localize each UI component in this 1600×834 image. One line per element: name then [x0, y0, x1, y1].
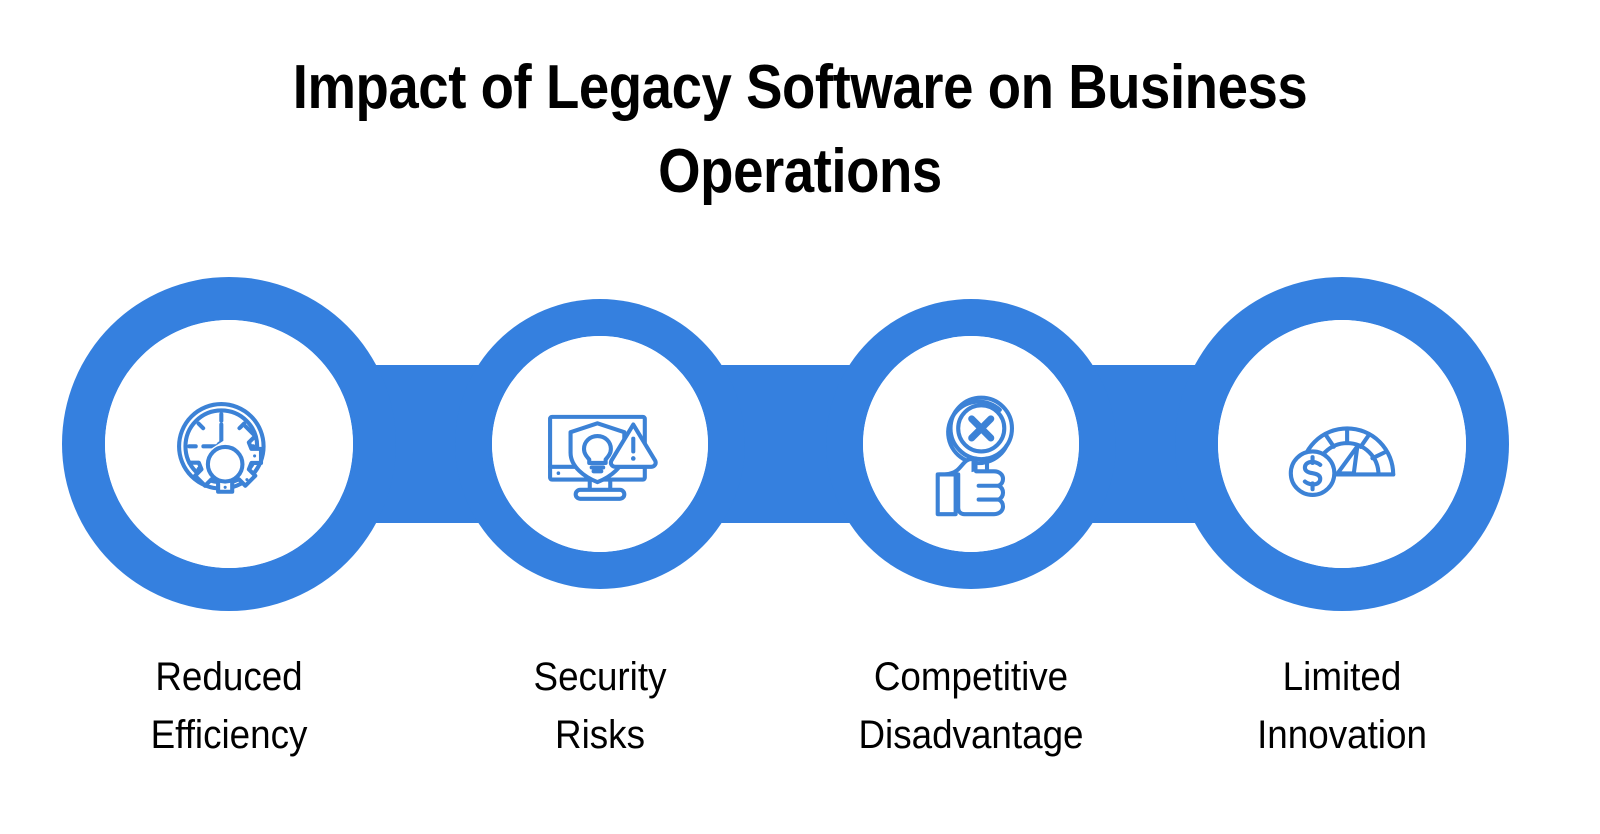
- page-title-line-1: Impact of Legacy Software on Business: [96, 46, 1504, 130]
- node-label-competitive-disadvantage: Competitive Disadvantage: [821, 648, 1121, 764]
- page-title-line-2: Operations: [96, 130, 1504, 214]
- node-inner-circle-1: [105, 320, 353, 568]
- node-label-limited-innovation: Limited Innovation: [1192, 648, 1492, 764]
- infographic-canvas: Impact of Legacy Software on Business Op…: [0, 0, 1600, 834]
- page-title: Impact of Legacy Software on Business Op…: [0, 46, 1600, 214]
- node-label-security-risks: Security Risks: [450, 648, 750, 764]
- chain-graphic: [0, 262, 1600, 630]
- node-label-reduced-efficiency: Reduced Efficiency: [79, 648, 379, 764]
- label-line-1: Limited: [1204, 648, 1480, 706]
- label-line-2: Innovation: [1204, 706, 1480, 764]
- node-inner-circle-3: [863, 336, 1079, 552]
- label-line-2: Efficiency: [91, 706, 367, 764]
- label-row: Reduced Efficiency Security Risks Compet…: [0, 648, 1600, 788]
- process-chain: [0, 262, 1600, 630]
- node-inner-circle-2: [492, 336, 708, 552]
- node-inner-circle-4: [1218, 320, 1466, 568]
- label-line-1: Competitive: [833, 648, 1109, 706]
- label-line-1: Security: [462, 648, 738, 706]
- label-line-2: Disadvantage: [833, 706, 1109, 764]
- label-line-2: Risks: [462, 706, 738, 764]
- label-line-1: Reduced: [91, 648, 367, 706]
